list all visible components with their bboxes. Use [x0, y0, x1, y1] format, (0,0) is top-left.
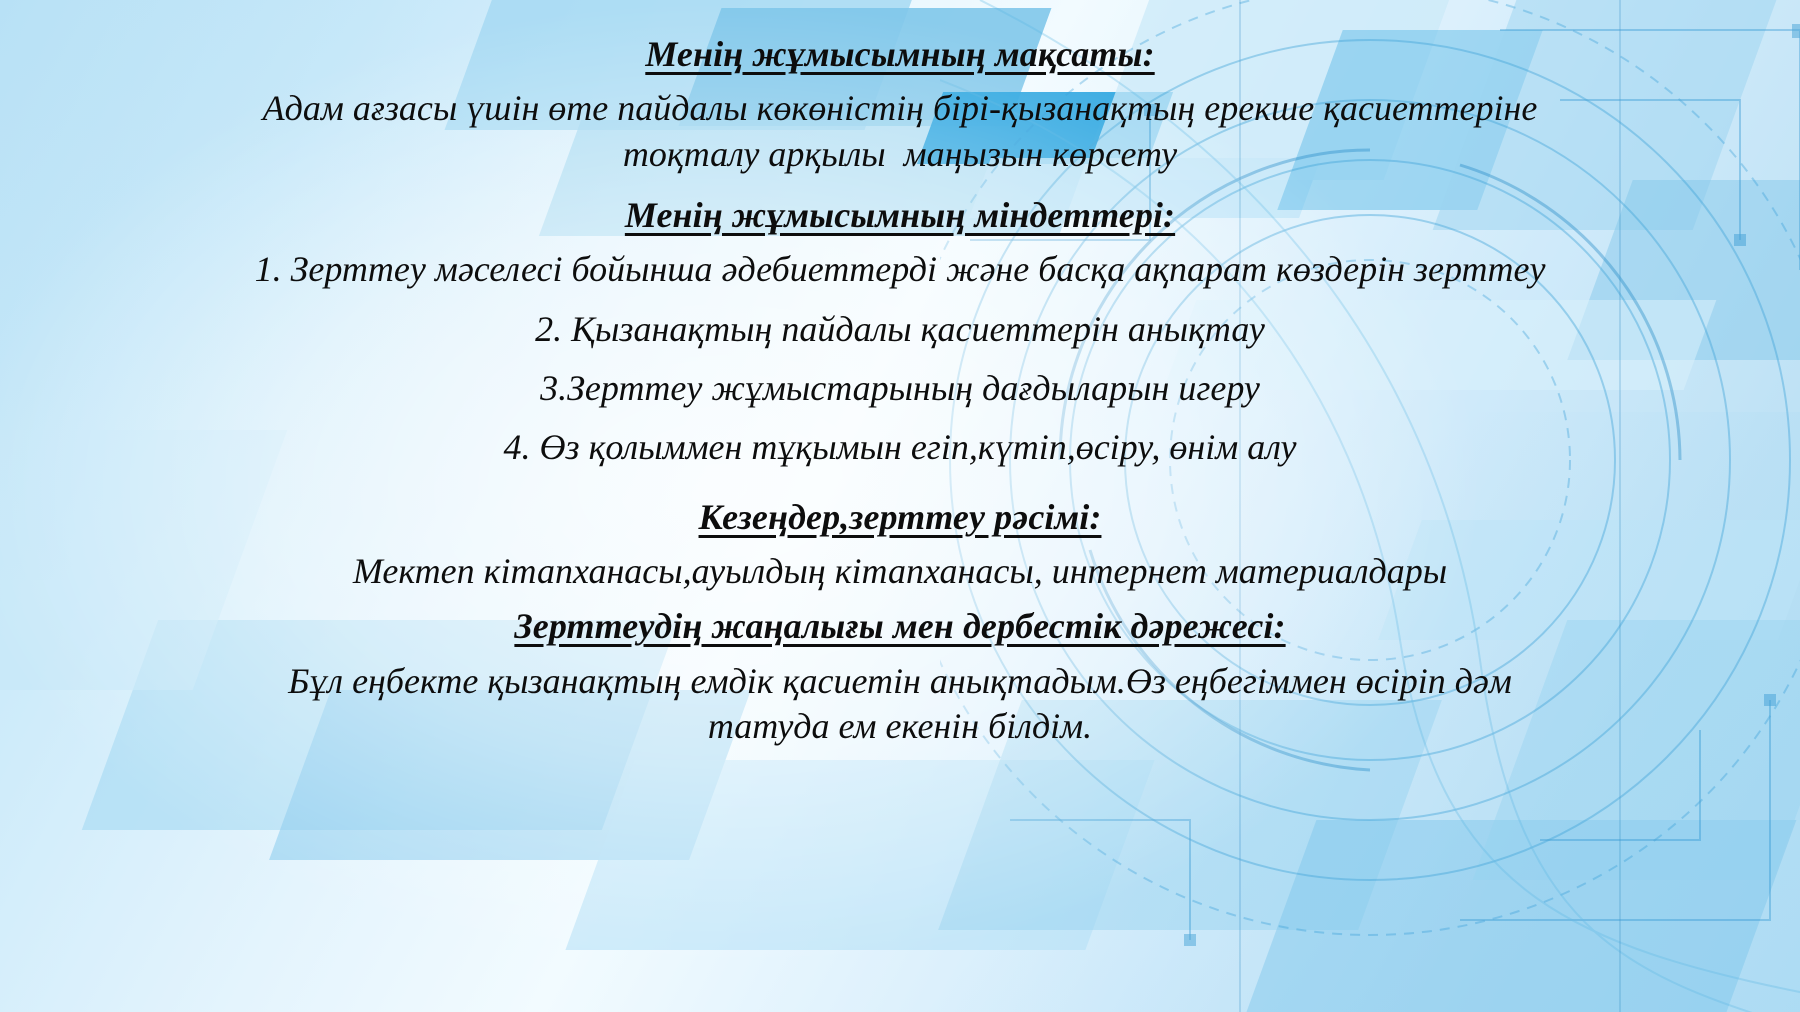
section-tasks-list: 1. Зерттеу мәселесі бойынша әдебиеттерді…: [50, 247, 1750, 470]
section-goal-heading: Менің жұмысымның мақсаты:: [22, 34, 1778, 74]
section-goal-body: Адам ағзасы үшін өте пайдалы көкөністің …: [90, 86, 1710, 177]
section-stages-heading: Кезеңдер,зерттеу рәсімі:: [22, 497, 1778, 537]
task-item-2: 2. Қызанақтың пайдалы қасиеттерін анықта…: [50, 307, 1750, 352]
background-parallelogram: [565, 760, 1154, 950]
presentation-slide: Менің жұмысымның мақсаты: Адам ағзасы үш…: [0, 0, 1800, 1012]
section-goal-line-2: тоқталу арқылы маңызын көрсету: [90, 132, 1710, 177]
task-item-4: 4. Өз қолыммен тұқымын егіп,күтіп,өсіру,…: [50, 425, 1750, 470]
section-goal-line-1: Адам ағзасы үшін өте пайдалы көкөністің …: [90, 86, 1710, 131]
slide-content: Менің жұмысымның мақсаты: Адам ағзасы үш…: [0, 0, 1800, 759]
section-stages-body: Мектеп кітапханасы,ауылдың кітапханасы, …: [90, 549, 1710, 594]
task-item-3: 3.Зерттеу жұмыстарының дағдыларын игеру: [50, 366, 1750, 411]
section-novelty: Зерттеудің жаңалығы мен дербестік дәреже…: [22, 606, 1778, 749]
task-item-1: 1. Зерттеу мәселесі бойынша әдебиеттерді…: [50, 247, 1750, 292]
section-goal: Менің жұмысымның мақсаты: Адам ағзасы үш…: [22, 34, 1778, 177]
section-novelty-heading: Зерттеудің жаңалығы мен дербестік дәреже…: [22, 606, 1778, 646]
section-tasks-heading: Менің жұмысымның міндеттері:: [22, 195, 1778, 235]
section-stages: Кезеңдер,зерттеу рәсімі: Мектеп кітапхан…: [22, 497, 1778, 595]
section-tasks: Менің жұмысымның міндеттері: 1. Зерттеу …: [22, 195, 1778, 471]
background-parallelogram: [1244, 820, 1797, 1012]
section-stages-line-1: Мектеп кітапханасы,ауылдың кітапханасы, …: [90, 549, 1710, 594]
section-novelty-body: Бұл еңбекте қызанақтың емдік қасиетін ан…: [90, 659, 1710, 750]
section-novelty-line-2: татуда ем екенін білдім.: [90, 704, 1710, 749]
section-novelty-line-1: Бұл еңбекте қызанақтың емдік қасиетін ан…: [90, 659, 1710, 704]
